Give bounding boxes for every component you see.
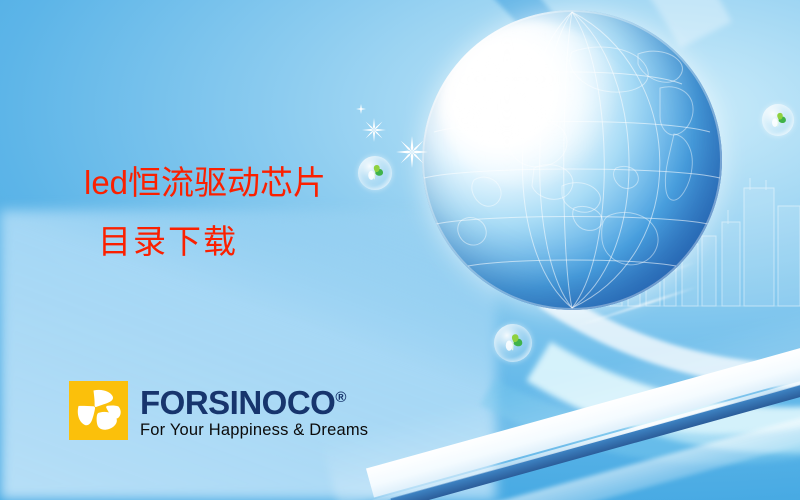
- sparkle-star-icon-tiny: [356, 104, 366, 114]
- page-title-line1: led恒流驱动芯片: [84, 164, 326, 201]
- brand-logo[interactable]: FORSINOCO® For Your Happiness & Dreams: [69, 381, 368, 440]
- bubble-with-sprout-icon-right: [762, 104, 794, 136]
- sparkle-star-icon-small: [362, 118, 386, 142]
- brand-name: FORSINOCO®: [140, 381, 368, 420]
- banner-canvas: led恒流驱动芯片 目录下载 FORSINOCO® For Your Happi…: [0, 0, 800, 500]
- brand-name-text: FORSINOCO: [140, 384, 335, 421]
- registered-trademark-icon: ®: [335, 389, 346, 406]
- sparkle-star-icon-large: [396, 136, 428, 168]
- bubble-with-sprout-icon-center: [494, 324, 532, 362]
- page-title: led恒流驱动芯片 目录下载: [84, 166, 326, 258]
- brand-tagline: For Your Happiness & Dreams: [140, 421, 368, 440]
- globe-icon: [422, 10, 722, 310]
- page-title-line2: 目录下载: [98, 225, 326, 258]
- bubble-with-sprout-icon-left: [358, 156, 392, 190]
- four-petal-flower-icon: [69, 381, 128, 440]
